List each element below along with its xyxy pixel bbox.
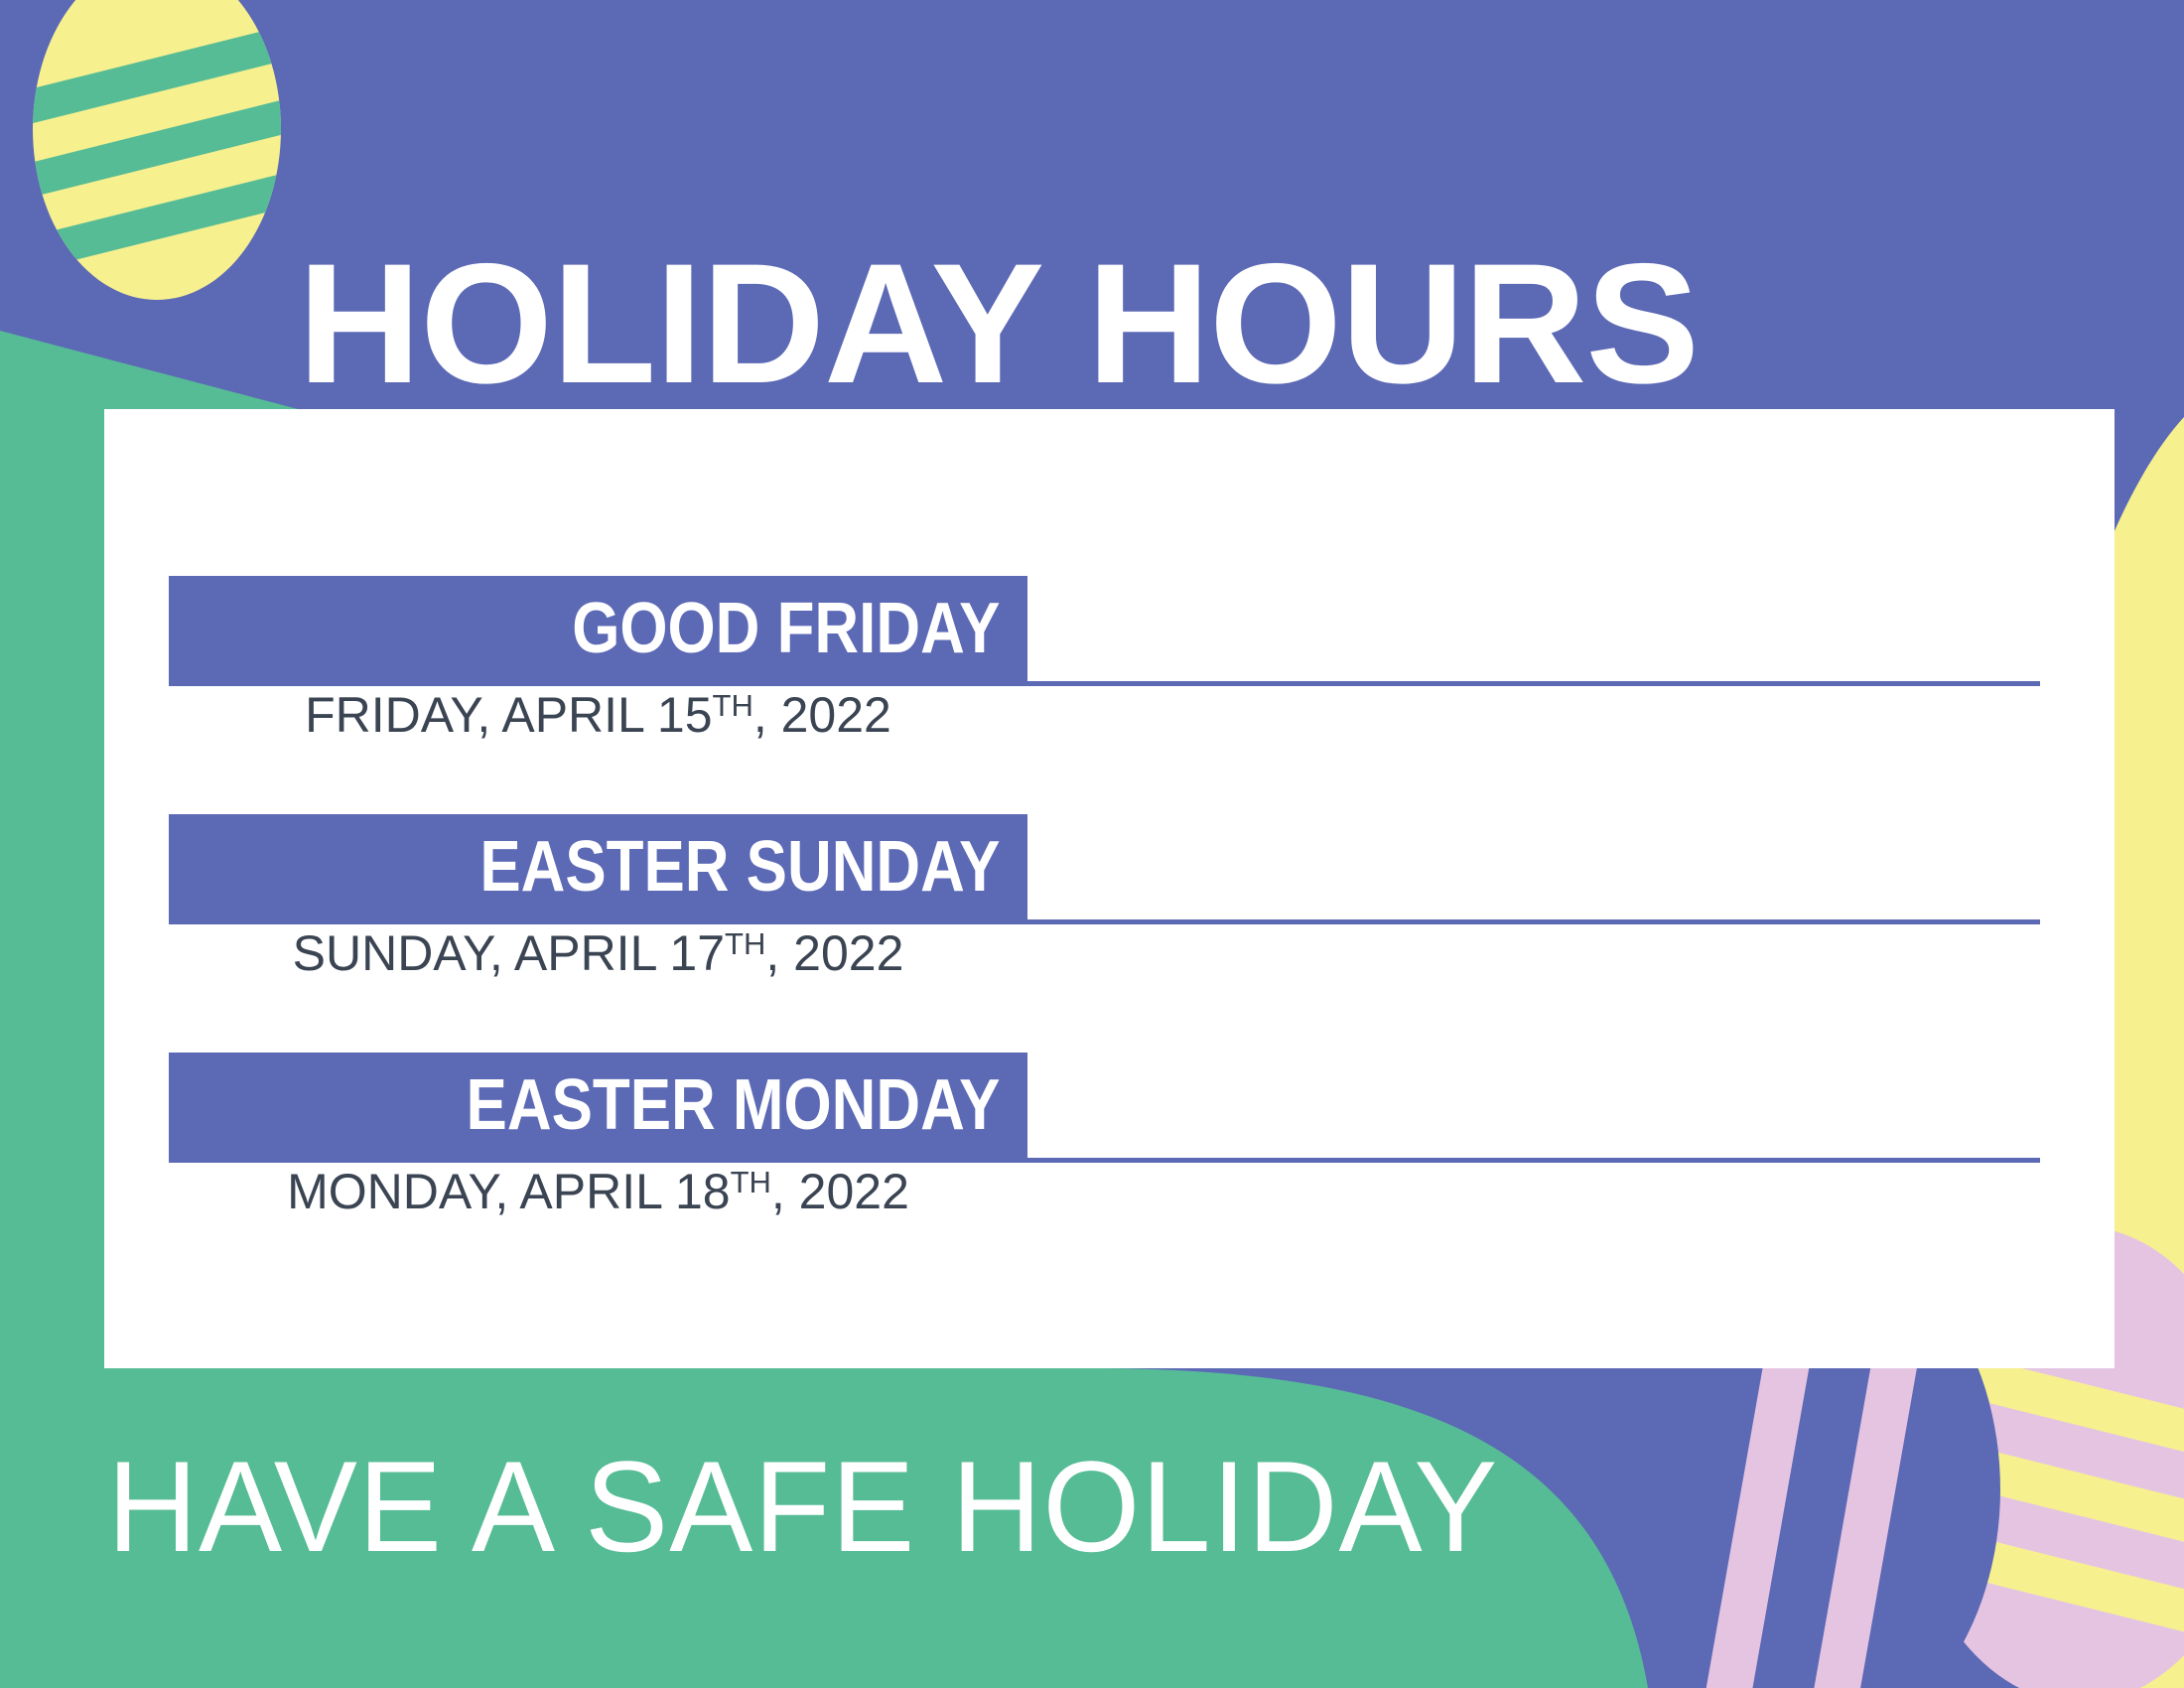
holiday-entry-list: GOOD FRIDAY FRIDAY, APRIL 15TH, 2022 EAS… (104, 409, 2115, 1368)
holiday-date-year: , 2022 (753, 687, 891, 743)
holiday-date-year: , 2022 (765, 925, 903, 981)
holiday-date: SUNDAY, APRIL 17TH, 2022 (169, 925, 1027, 983)
holiday-entry-row: GOOD FRIDAY FRIDAY, APRIL 15TH, 2022 (104, 576, 2115, 804)
holiday-name-badge: GOOD FRIDAY (169, 576, 1027, 681)
holiday-name-text: EASTER SUNDAY (479, 831, 1000, 903)
holiday-date-weekday: FRIDAY, APRIL 15 (305, 687, 712, 743)
page-title: HOLIDAY HOURS (298, 238, 1886, 409)
holiday-date-ordinal: TH (713, 688, 753, 723)
holiday-entry-row: EASTER MONDAY MONDAY, APRIL 18TH, 2022 (104, 1053, 2115, 1281)
holiday-name-text: EASTER MONDAY (466, 1069, 1000, 1141)
holiday-date-ordinal: TH (731, 1165, 771, 1199)
entry-rule-line (169, 1158, 2040, 1163)
entry-rule-line (169, 681, 2040, 686)
holiday-date: FRIDAY, APRIL 15TH, 2022 (169, 687, 1027, 745)
holiday-date: MONDAY, APRIL 18TH, 2022 (169, 1164, 1027, 1221)
holiday-date-ordinal: TH (725, 926, 765, 961)
entry-rule-line (169, 919, 2040, 924)
holiday-date-year: , 2022 (771, 1164, 909, 1219)
footer-message: HAVE A SAFE HOLIDAY (107, 1442, 1498, 1571)
holiday-entry-row: EASTER SUNDAY SUNDAY, APRIL 17TH, 2022 (104, 814, 2115, 1043)
holiday-hours-poster: HOLIDAY HOURS GOOD FRIDAY FRIDAY, APRIL … (0, 0, 2184, 1688)
holiday-date-weekday: SUNDAY, APRIL 17 (293, 925, 725, 981)
holiday-date-weekday: MONDAY, APRIL 18 (287, 1164, 730, 1219)
holiday-name-badge: EASTER SUNDAY (169, 814, 1027, 919)
holiday-name-text: GOOD FRIDAY (572, 593, 1000, 664)
holiday-name-badge: EASTER MONDAY (169, 1053, 1027, 1158)
